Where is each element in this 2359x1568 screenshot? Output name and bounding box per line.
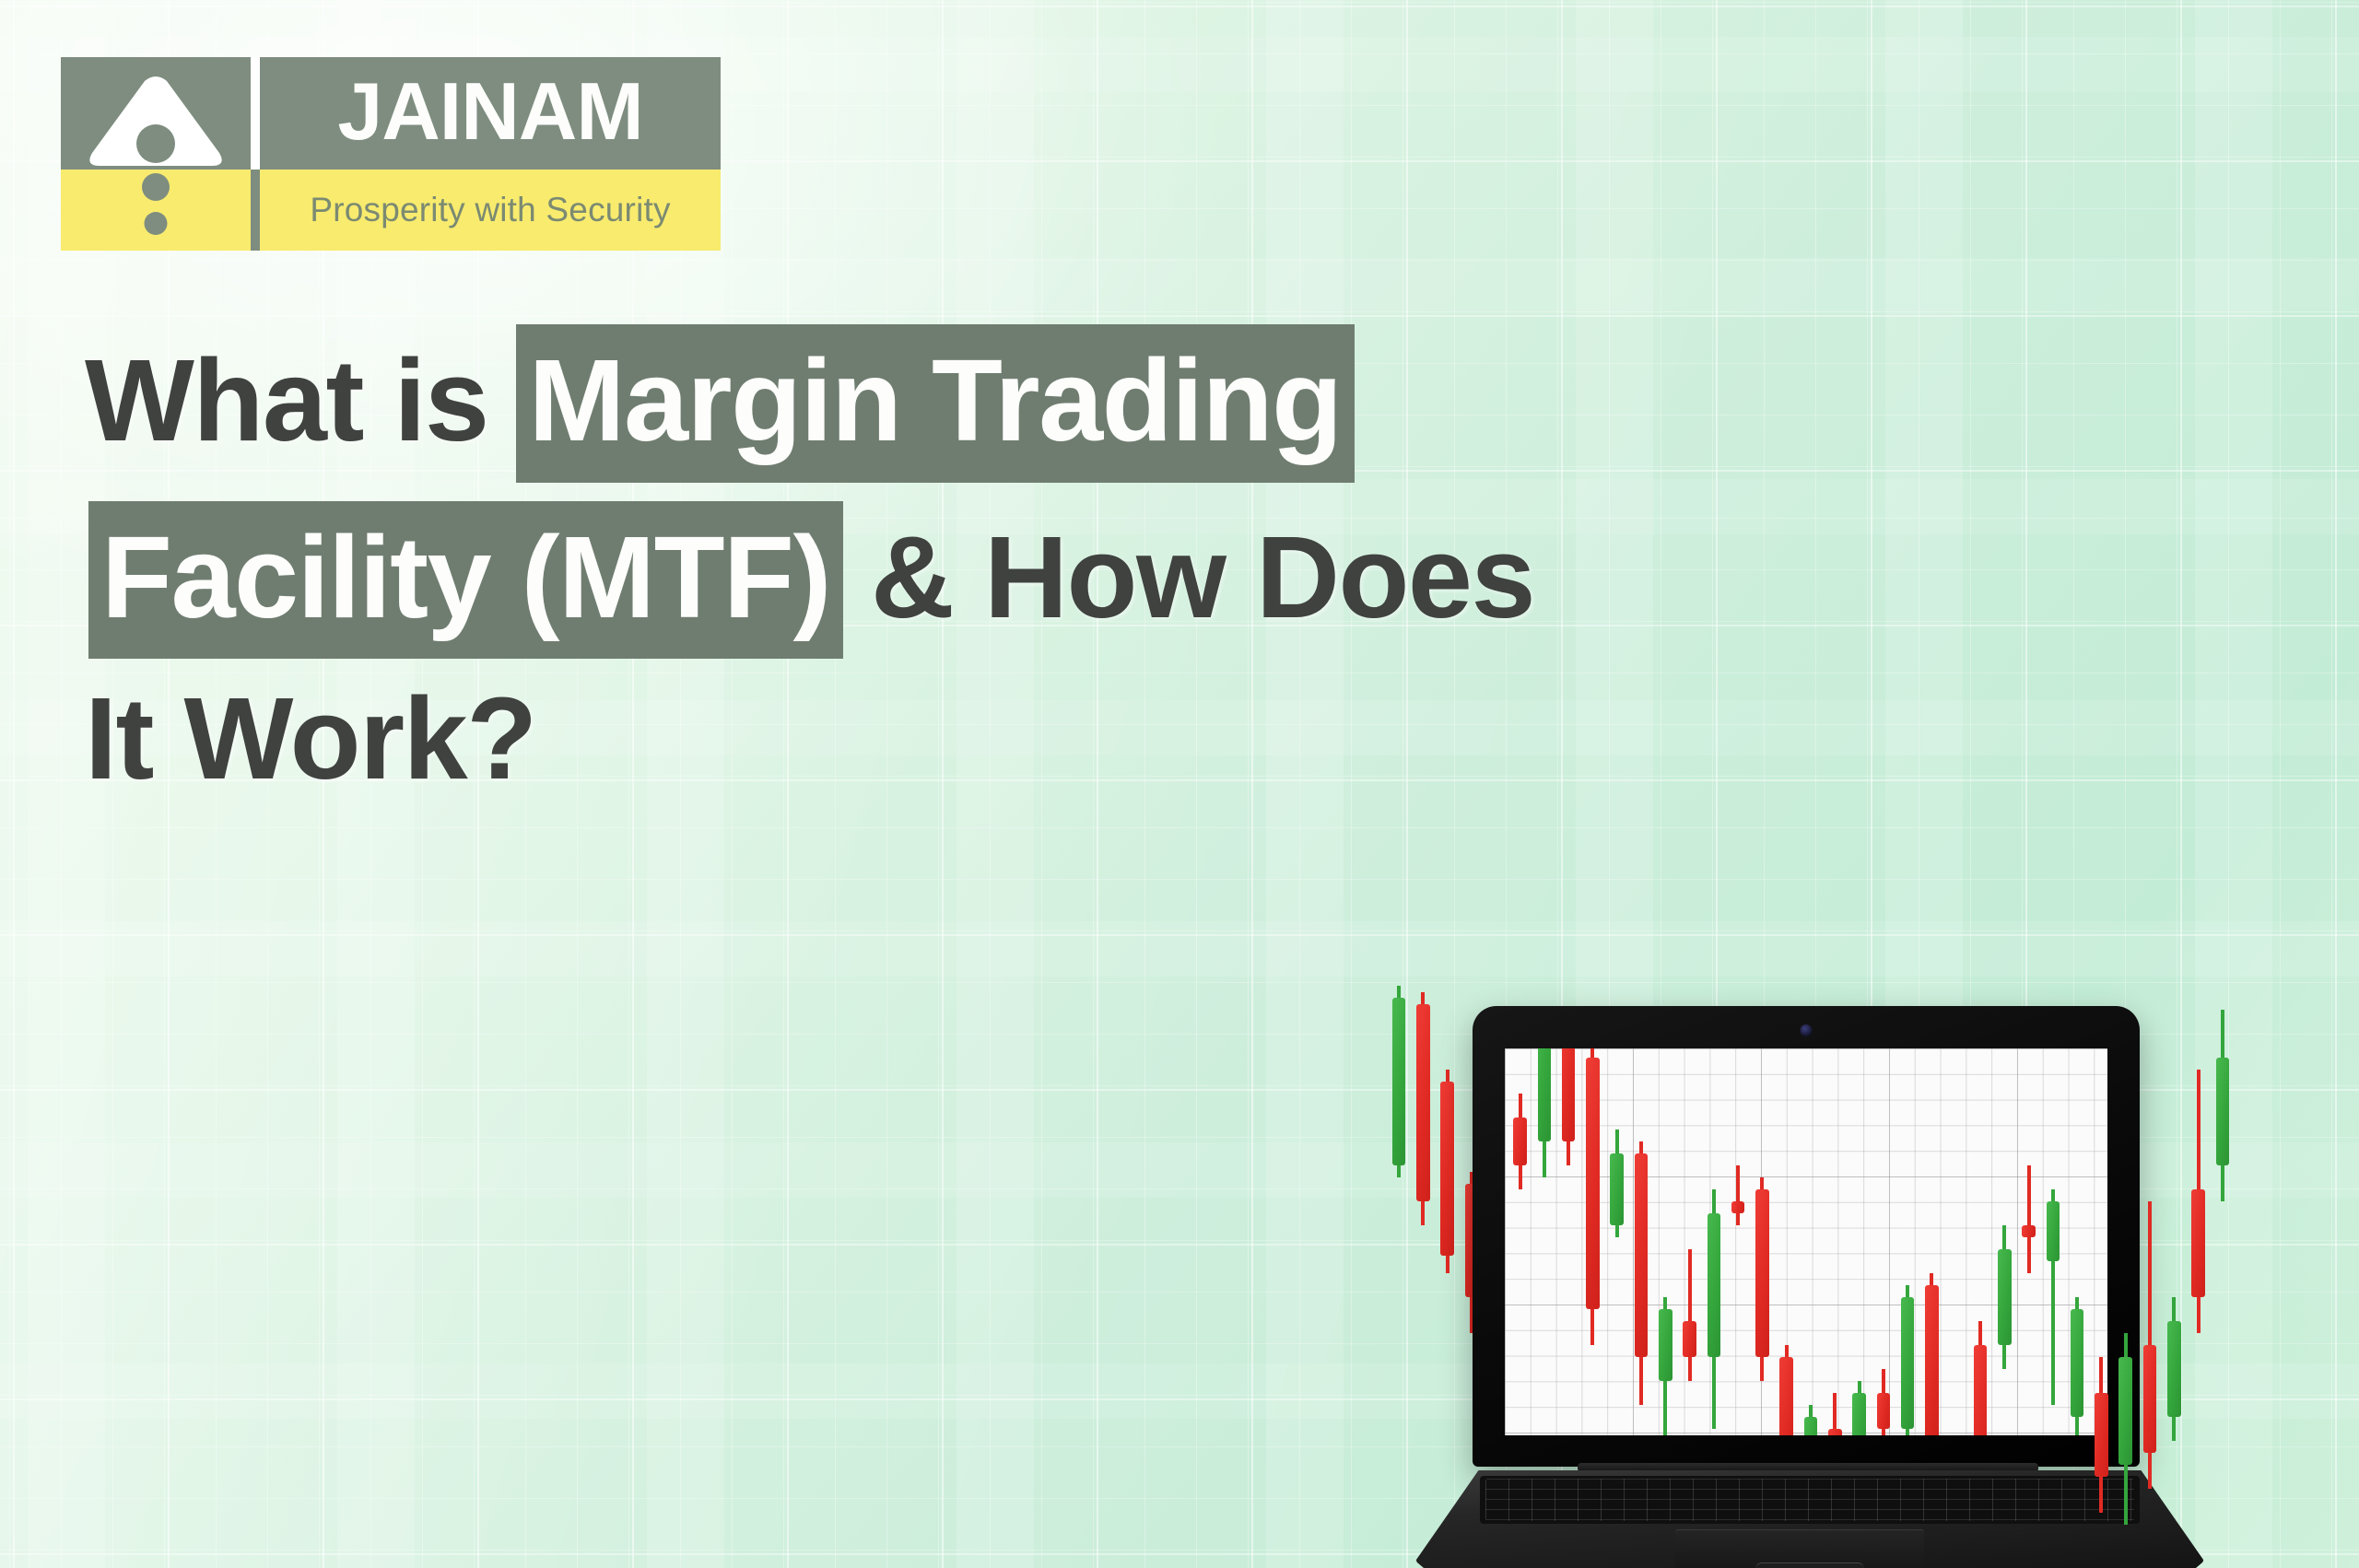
headline-segment-highlight: Margin Trading <box>516 324 1355 483</box>
laptop-device <box>1382 921 2304 1566</box>
laptop-chart-illustration <box>1382 921 2304 1566</box>
laptop-base <box>1415 1470 2204 1568</box>
laptop-lid <box>1473 1006 2140 1467</box>
headline-line-1: What isMargin Trading <box>85 324 2186 483</box>
laptop-screen <box>1505 1048 2107 1435</box>
brand-wordmark: JAINAM <box>260 57 721 170</box>
headline-segment-plain: & How Does <box>871 516 1534 639</box>
headline-segment-highlight: Facility (MTF) <box>88 501 843 660</box>
logo-dot-upper <box>142 173 170 201</box>
logo-dot-lower <box>145 212 168 235</box>
logo-accent-band <box>61 170 251 251</box>
headline-line-2: Facility (MTF)& How Does <box>85 501 2186 660</box>
logo-plate <box>61 57 251 170</box>
brand-name: JAINAM <box>337 71 642 156</box>
logo-divider <box>251 57 260 251</box>
brand-tagline-band: Prosperity with Security <box>260 170 721 251</box>
brand-tagline: Prosperity with Security <box>310 191 670 229</box>
laptop-front-notch <box>1755 1562 1864 1568</box>
page-title: What isMargin Trading Facility (MTF)& Ho… <box>85 324 2186 819</box>
logo-text-block: JAINAM Prosperity with Security <box>260 57 721 251</box>
chart-grid-major <box>1505 1048 2107 1435</box>
brand-logo[interactable]: JAINAM Prosperity with Security <box>61 57 721 251</box>
keyboard-keys <box>1485 1479 2134 1521</box>
webcam-icon <box>1801 1024 1813 1036</box>
triangle-icon <box>87 72 225 170</box>
headline-segment-plain: What is <box>85 339 488 462</box>
logo-mark <box>61 57 251 251</box>
poster-canvas: JAINAM Prosperity with Security What isM… <box>0 0 2359 1568</box>
laptop-keyboard[interactable] <box>1480 1476 2140 1524</box>
headline-segment-plain: It Work? <box>85 677 536 801</box>
headline-line-3: It Work? <box>85 677 2186 801</box>
